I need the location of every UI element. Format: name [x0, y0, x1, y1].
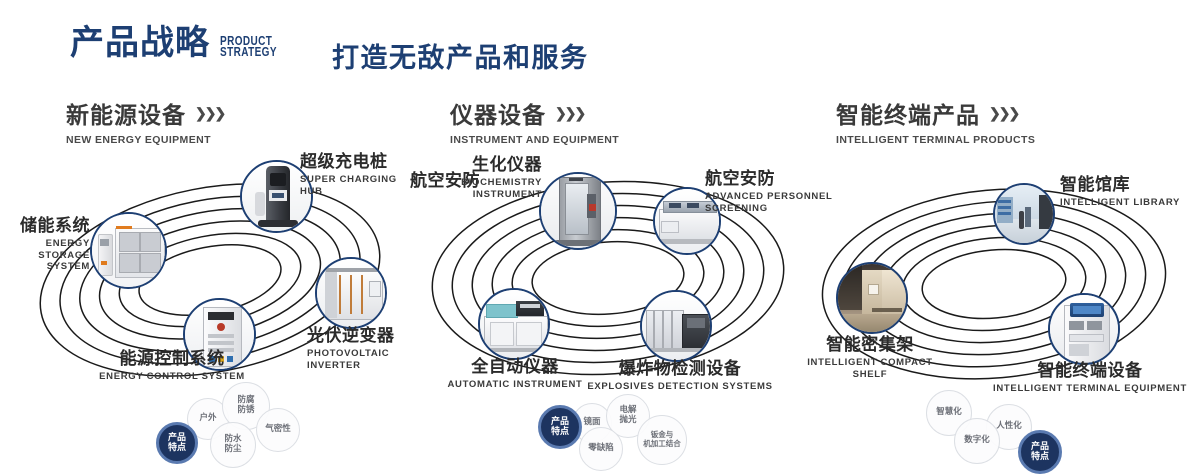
node-label-automatic-instrument: 全自动仪器 AUTOMATIC INSTRUMENT [425, 358, 605, 391]
node-label-cn: 储能系统 [0, 217, 90, 236]
chevron-right-icon: ❯❯❯ [989, 105, 1018, 122]
page-title-cn: 产品战略 [70, 26, 210, 60]
node-photovoltaic-inverter[interactable] [315, 257, 387, 329]
cluster-instrument-and-equipment: 镜面 电解 抛光 零缺陷 钣金与 机加工结合 产品 特点 航空安防 生化仪器 B… [400, 150, 820, 400]
explosives-detection-photo [642, 292, 710, 360]
node-label-energy-control-system: 能源控制系统 ENERGY CONTROL SYSTEM [82, 350, 262, 383]
node-label-en: INTELLIGENT TERMINAL EQUIPMENT [990, 383, 1190, 395]
node-label-cn: 智能馆库 [1060, 176, 1200, 195]
core-feature-bubble: 产品 特点 [1018, 430, 1062, 474]
energy-storage-photo [92, 214, 165, 287]
node-intelligent-terminal-equipment[interactable] [1048, 293, 1120, 365]
core-feature-bubble: 产品 特点 [538, 405, 582, 449]
node-biochemistry-instrument[interactable] [539, 172, 617, 250]
feature-bubble: 气密性 [256, 408, 300, 452]
cluster-new-energy-equipment: 户外 防腐 防锈 气密性 防水 防尘 产品 特点 储能系统 ENERGY STO… [0, 150, 420, 400]
feature-bubble: 数字化 [954, 418, 1000, 464]
biochemistry-instrument-photo [541, 174, 615, 248]
node-label-energy-storage-system: 储能系统 ENERGY STORAGE SYSTEM [0, 217, 90, 273]
node-label-intelligent-compact-shelf: 智能密集架 INTELLIGENT COMPACT SHELF [780, 336, 960, 380]
node-label-en: AUTOMATIC INSTRUMENT [425, 379, 605, 391]
section-heading-label: 智能终端产品 [836, 96, 980, 130]
section-heading-cn: 智能终端产品 ❯❯❯ [836, 96, 1035, 130]
product-strategy-infographic: 产品战略 PRODUCT STRATEGY 打造无敌产品和服务 新能源设备 ❯❯… [0, 0, 1200, 422]
page-title: 产品战略 PRODUCT STRATEGY [70, 26, 291, 60]
node-label-en: INTELLIGENT LIBRARY [1060, 197, 1200, 209]
node-intelligent-library[interactable] [993, 183, 1055, 245]
node-label-intelligent-library: 智能馆库 INTELLIGENT LIBRARY [1060, 176, 1200, 209]
chevron-right-icon: ❯❯❯ [555, 105, 584, 122]
node-label-cn: 全自动仪器 [425, 358, 605, 377]
page-title-en: PRODUCT STRATEGY [220, 36, 277, 58]
section-heading-cn: 仪器设备 ❯❯❯ [450, 96, 619, 130]
node-label-biochemistry-instrument: 生化仪器 BIOCHEMISTRY INSTRUMENT [442, 156, 542, 200]
cluster-intelligent-terminal-products: 智慧化 人性化 数字化 产品 特点 智能馆库 INTELLIGENT LIBRA… [790, 150, 1200, 410]
node-label-cn: 智能终端设备 [990, 362, 1190, 381]
intelligent-library-photo [995, 185, 1053, 243]
terminal-equipment-photo [1050, 295, 1118, 363]
section-heading-cn: 新能源设备 ❯❯❯ [66, 96, 224, 130]
feature-bubble: 零缺陷 [579, 427, 623, 471]
section-heading-new-energy: 新能源设备 ❯❯❯ NEW ENERGY EQUIPMENT [66, 96, 224, 146]
node-label-en: ENERGY STORAGE SYSTEM [0, 238, 90, 274]
node-energy-storage-system[interactable] [90, 212, 167, 289]
page-slogan: 打造无敌产品和服务 [332, 36, 589, 75]
node-label-en: BIOCHEMISTRY INSTRUMENT [442, 177, 542, 201]
node-label-cn: 生化仪器 [442, 156, 542, 175]
section-heading-en: INSTRUMENT AND EQUIPMENT [450, 134, 619, 146]
section-heading-label: 新能源设备 [66, 96, 186, 130]
node-label-en: EXPLOSIVES DETECTION SYSTEMS [586, 381, 774, 393]
core-feature-bubble: 产品 特点 [156, 422, 198, 464]
node-intelligent-compact-shelf[interactable] [836, 262, 908, 334]
chevron-right-icon: ❯❯❯ [195, 105, 224, 122]
section-heading-label: 仪器设备 [450, 96, 546, 130]
node-label-en: ENERGY CONTROL SYSTEM [82, 371, 262, 383]
node-label-intelligent-terminal-equipment: 智能终端设备 INTELLIGENT TERMINAL EQUIPMENT [990, 362, 1190, 395]
node-label-explosives-detection-systems: 爆炸物检测设备 EXPLOSIVES DETECTION SYSTEMS [586, 360, 774, 393]
node-explosives-detection-systems[interactable] [640, 290, 712, 362]
section-heading-en: NEW ENERGY EQUIPMENT [66, 134, 224, 146]
section-heading-en: INTELLIGENT TERMINAL PRODUCTS [836, 134, 1035, 146]
feature-bubble: 钣金与 机加工结合 [637, 415, 687, 465]
node-label-cn: 爆炸物检测设备 [586, 360, 774, 379]
automatic-instrument-photo [480, 290, 548, 358]
feature-bubble: 防水 防尘 [210, 422, 256, 468]
node-label-cn: 能源控制系统 [82, 350, 262, 369]
node-automatic-instrument[interactable] [478, 288, 550, 360]
section-heading-intelligent-terminal: 智能终端产品 ❯❯❯ INTELLIGENT TERMINAL PRODUCTS [836, 96, 1035, 146]
inverter-photo [317, 259, 385, 327]
compact-shelf-photo [838, 264, 906, 332]
node-label-en: INTELLIGENT COMPACT SHELF [780, 357, 960, 381]
node-label-cn: 智能密集架 [780, 336, 960, 355]
section-heading-instrument: 仪器设备 ❯❯❯ INSTRUMENT AND EQUIPMENT [450, 96, 619, 146]
